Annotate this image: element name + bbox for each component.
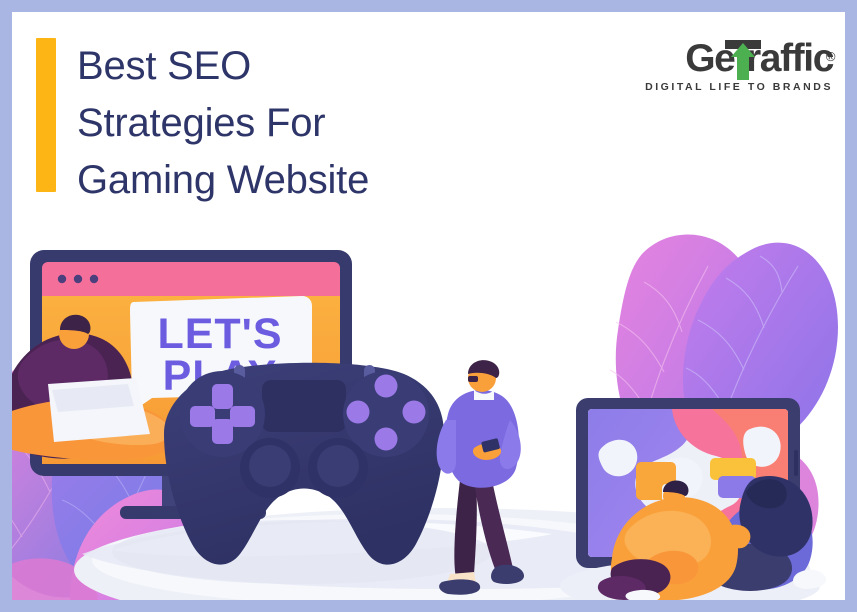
logo-tagline: DIGITAL LIFE TO BRANDS bbox=[633, 81, 833, 93]
poster-canvas: Best SEO Strategies For Gaming Website G… bbox=[12, 12, 845, 600]
screen-text-lets: LET'S bbox=[157, 310, 282, 358]
logo-wordmark: Getraffic ® bbox=[633, 38, 833, 80]
poster-frame: Best SEO Strategies For Gaming Website G… bbox=[0, 0, 857, 612]
up-arrow-icon bbox=[725, 40, 761, 80]
gaming-illustration: LET'S PLAY bbox=[12, 162, 845, 600]
brand-logo: Getraffic ® DIGITAL LIFE TO BRANDS bbox=[633, 38, 833, 94]
registered-trademark-icon: ® bbox=[826, 36, 834, 78]
